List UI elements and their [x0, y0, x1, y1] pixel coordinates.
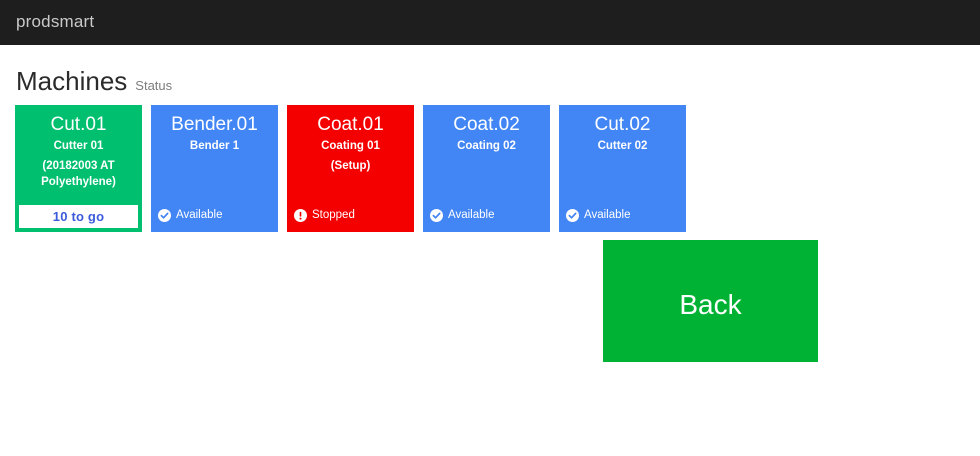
machine-status-label: Stopped: [312, 208, 355, 222]
machine-count-badge: 10 to go: [19, 205, 138, 228]
machine-tile-coat-01[interactable]: Coat.01 Coating 01 (Setup) Stopped: [287, 105, 414, 232]
machine-name: Bender.01: [151, 113, 278, 137]
machine-status: Available: [430, 208, 494, 222]
machine-status: Stopped: [294, 208, 355, 222]
machine-status-label: Available: [584, 208, 630, 222]
check-circle-icon: [158, 209, 171, 222]
page-heading: Machines Status: [16, 66, 172, 96]
machine-tile-cut-02[interactable]: Cut.02 Cutter 02 Available: [559, 105, 686, 232]
machine-name: Coat.01: [287, 113, 414, 137]
machine-status: Available: [158, 208, 222, 222]
back-button-label: Back: [603, 280, 818, 322]
machine-description: Cutter 01: [15, 138, 142, 155]
back-button[interactable]: Back: [603, 240, 818, 362]
machine-description: Bender 1: [151, 138, 278, 155]
machine-status: Available: [566, 208, 630, 222]
check-circle-icon: [430, 209, 443, 222]
exclamation-circle-icon: [294, 209, 307, 222]
machine-tile-header: Bender.01 Bender 1: [151, 105, 278, 155]
machine-name: Coat.02: [423, 113, 550, 137]
machine-tile-coat-02[interactable]: Coat.02 Coating 02 Available: [423, 105, 550, 232]
page-subtitle: Status: [135, 78, 172, 94]
machine-tile-header: Cut.02 Cutter 02: [559, 105, 686, 155]
machine-tile-header: Coat.02 Coating 02: [423, 105, 550, 155]
machine-description: Coating 02: [423, 138, 550, 155]
machine-description: Coating 01: [287, 138, 414, 155]
machine-tile-cut-01[interactable]: Cut.01 Cutter 01 (20182003 AT Polyethyle…: [15, 105, 142, 232]
page-title: Machines: [16, 66, 127, 96]
brand-logo[interactable]: prodsmart: [16, 9, 94, 34]
check-circle-icon: [566, 209, 579, 222]
machine-status-label: Available: [176, 208, 222, 222]
machine-name: Cut.02: [559, 113, 686, 137]
machine-name: Cut.01: [15, 113, 142, 137]
machine-description: Cutter 02: [559, 138, 686, 155]
machine-tile-header: Cut.01 Cutter 01 (20182003 AT Polyethyle…: [15, 105, 142, 190]
machine-tile-grid: Cut.01 Cutter 01 (20182003 AT Polyethyle…: [15, 105, 686, 232]
machine-note: (Setup): [287, 158, 414, 174]
machine-status-label: Available: [448, 208, 494, 222]
machine-tile-bender-01[interactable]: Bender.01 Bender 1 Available: [151, 105, 278, 232]
machine-tile-header: Coat.01 Coating 01 (Setup): [287, 105, 414, 174]
machine-note: (20182003 AT Polyethylene): [15, 158, 142, 190]
top-bar: prodsmart: [0, 0, 980, 45]
